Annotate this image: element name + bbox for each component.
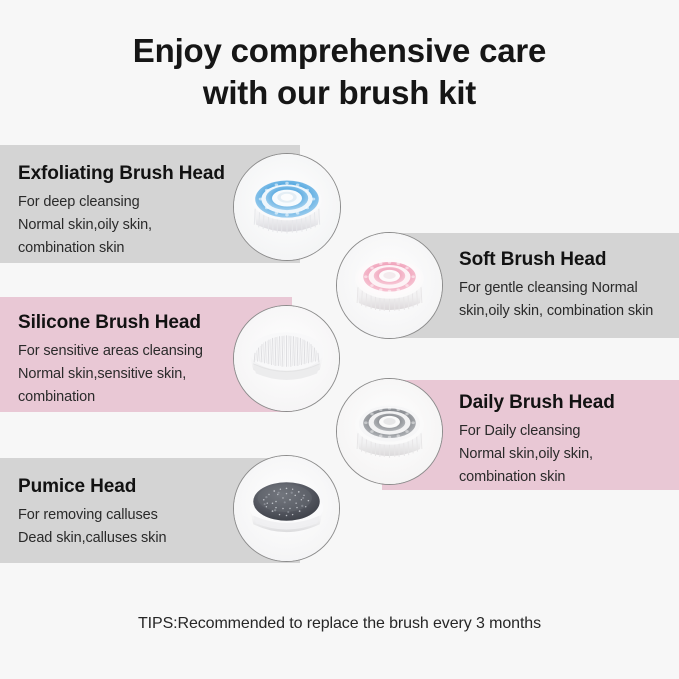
product-name-soft: Soft Brush Head bbox=[459, 249, 674, 272]
info-pumice: Pumice Head For removing calluses Dead s… bbox=[18, 476, 243, 550]
product-desc-line2-daily: Normal skin,oily skin, bbox=[459, 443, 674, 466]
product-desc-line1-silicone: For sensitive areas cleansing bbox=[18, 340, 253, 363]
product-desc-line2-soft: skin,oily skin, combination skin bbox=[459, 300, 674, 323]
product-desc-line1-daily: For Daily cleansing bbox=[459, 420, 674, 443]
info-daily: Daily Brush Head For Daily cleansing Nor… bbox=[459, 392, 674, 489]
info-exfoliating: Exfoliating Brush Head For deep cleansin… bbox=[18, 163, 248, 260]
exfoliating-brush-head-photo bbox=[233, 153, 341, 261]
product-desc-line2-exfoliating: Normal skin,oily skin, bbox=[18, 214, 248, 237]
soft-brush-head-photo bbox=[336, 232, 443, 339]
info-silicone: Silicone Brush Head For sensitive areas … bbox=[18, 312, 253, 409]
tips-text: TIPS:Recommended to replace the brush ev… bbox=[0, 615, 679, 633]
title-line-2: with our brush kit bbox=[0, 72, 679, 114]
product-desc-line3-daily: combination skin bbox=[459, 466, 674, 489]
product-name-exfoliating: Exfoliating Brush Head bbox=[18, 163, 248, 186]
product-desc-line2-silicone: Normal skin,sensitive skin, bbox=[18, 363, 253, 386]
product-desc-line3-exfoliating: combination skin bbox=[18, 237, 248, 260]
product-name-silicone: Silicone Brush Head bbox=[18, 312, 253, 335]
product-desc-line1-pumice: For removing calluses bbox=[18, 504, 243, 527]
product-desc-line2-pumice: Dead skin,calluses skin bbox=[18, 527, 243, 550]
product-desc-line1-soft: For gentle cleansing Normal bbox=[459, 277, 674, 300]
infographic-canvas: Enjoy comprehensive care with our brush … bbox=[0, 0, 679, 679]
product-desc-line3-silicone: combination bbox=[18, 386, 253, 409]
info-soft: Soft Brush Head For gentle cleansing Nor… bbox=[459, 249, 674, 323]
pumice-head-photo bbox=[233, 455, 340, 562]
product-name-pumice: Pumice Head bbox=[18, 476, 243, 499]
product-name-daily: Daily Brush Head bbox=[459, 392, 674, 415]
daily-brush-head-photo bbox=[336, 378, 443, 485]
page-title: Enjoy comprehensive care with our brush … bbox=[0, 30, 679, 113]
title-line-1: Enjoy comprehensive care bbox=[133, 32, 546, 69]
product-desc-line1-exfoliating: For deep cleansing bbox=[18, 191, 248, 214]
